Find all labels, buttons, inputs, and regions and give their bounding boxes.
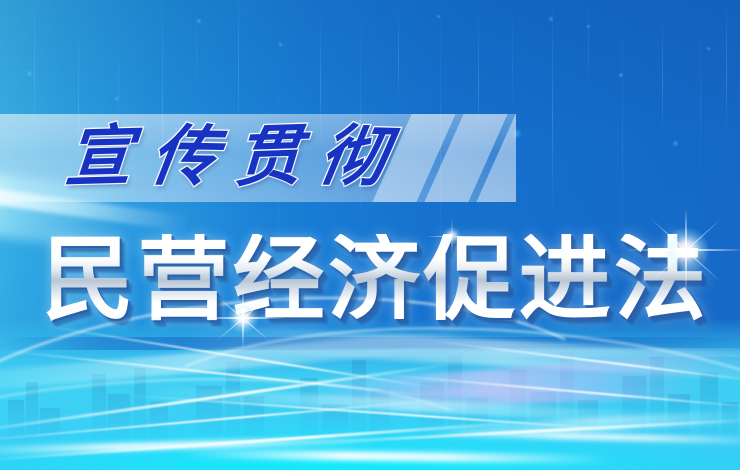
title-char-5: 促 (423, 234, 515, 326)
title-char-2: 营 (137, 234, 229, 326)
title-char-4: 济 (328, 234, 420, 326)
title-char-6: 进 (519, 234, 611, 326)
banner-headline: 宣 传 贯 彻 (66, 117, 386, 199)
main-title: 民 营 经 济 促 进 法 (42, 228, 706, 332)
title-char-3: 经 (233, 234, 325, 326)
title-char-1: 民 (42, 234, 134, 326)
banner-char-2: 传 (146, 124, 221, 191)
lower-cyan-glow (0, 358, 740, 470)
horizontal-blue-band-secondary (250, 348, 740, 357)
banner-char-1: 宣 (63, 124, 134, 192)
title-char-7: 法 (614, 234, 706, 326)
banner-char-3: 贯 (233, 124, 303, 192)
banner-char-4: 彻 (315, 124, 392, 192)
poster-banner: 宣 传 贯 彻 (0, 0, 740, 470)
